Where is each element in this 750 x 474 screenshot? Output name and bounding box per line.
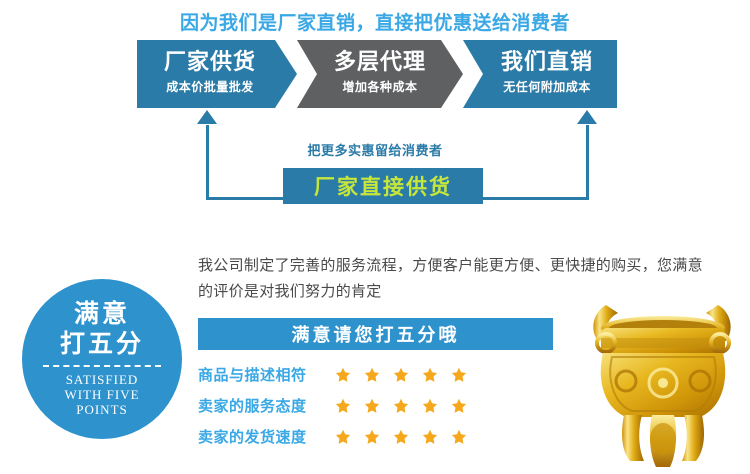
badge-chinese-line-2: 打五分 (22, 329, 182, 359)
golden-ding-product-image (576, 283, 750, 469)
star-icon[interactable] (361, 395, 383, 417)
star-icon[interactable] (419, 395, 441, 417)
flow-step-factory-supply: 厂家供货 成本价批量批发 (137, 40, 297, 108)
star-icon[interactable] (448, 364, 470, 386)
badge-dashed-divider (43, 365, 161, 367)
star-icon[interactable] (419, 426, 441, 448)
flow-step-direct-sale: 我们直销 无任何附加成本 (463, 40, 617, 108)
flow-step-2-subtitle: 增加各种成本 (297, 77, 463, 97)
rating-row-item-match: 商品与描述相符 (198, 359, 598, 390)
star-icon[interactable] (390, 395, 412, 417)
badge-english-line-1: SATISFIED (22, 372, 182, 387)
badge-english-line-3: POINTS (22, 402, 182, 417)
rating-rows-list: 商品与描述相符 卖家的服务态度 (198, 359, 598, 452)
flow-step-1-title: 厂家供货 (137, 47, 297, 77)
star-icon[interactable] (332, 426, 354, 448)
supply-chain-flow-section: 因为我们是厂家直销，直接把优惠送给消费者 厂家供货 成本价批量批发 多层代理 增… (0, 0, 750, 225)
direct-supply-box: 厂家直接供货 (283, 168, 483, 204)
flow-step-3-subtitle: 无任何附加成本 (463, 77, 617, 97)
flow-title: 因为我们是厂家直销，直接把优惠送给消费者 (0, 8, 750, 35)
promo-banner-page: 因为我们是厂家直销，直接把优惠送给消费者 厂家供货 成本价批量批发 多层代理 增… (0, 0, 750, 474)
star-icon[interactable] (361, 364, 383, 386)
rating-label-item-match: 商品与描述相符 (198, 364, 318, 385)
rating-stars-shipping-speed[interactable] (332, 426, 477, 448)
rating-stars-item-match[interactable] (332, 364, 477, 386)
star-icon[interactable] (419, 364, 441, 386)
loop-caption: 把更多实惠留给消费者 (0, 140, 750, 159)
badge-chinese-line-1: 满意 (22, 299, 182, 329)
flow-step-1-subtitle: 成本价批量批发 (137, 77, 297, 97)
star-icon[interactable] (332, 364, 354, 386)
star-icon[interactable] (448, 395, 470, 417)
star-icon[interactable] (448, 426, 470, 448)
star-icon[interactable] (390, 426, 412, 448)
rating-label-service-attitude: 卖家的服务态度 (198, 395, 318, 416)
rating-banner: 满意请您打五分哦 (198, 318, 553, 350)
service-rating-section: 满意 打五分 SATISFIED WITH FIVE POINTS 我公司制定了… (0, 225, 750, 474)
rating-banner-label: 满意请您打五分哦 (292, 321, 460, 347)
flow-step-3-title: 我们直销 (463, 47, 617, 77)
loop-arrow-right-icon (577, 110, 597, 124)
direct-supply-label: 厂家直接供货 (314, 171, 452, 201)
badge-english-line-2: WITH FIVE (22, 387, 182, 402)
star-icon[interactable] (361, 426, 383, 448)
loop-connector-right-vertical (586, 125, 589, 200)
loop-connector-left-vertical (206, 125, 209, 200)
star-icon[interactable] (332, 395, 354, 417)
star-icon[interactable] (390, 364, 412, 386)
flow-step-2-title: 多层代理 (297, 47, 463, 77)
chevron-steps-row: 厂家供货 成本价批量批发 多层代理 增加各种成本 我们直销 无任何附加成本 (137, 40, 617, 108)
rating-stars-service-attitude[interactable] (332, 395, 477, 417)
rating-row-service-attitude: 卖家的服务态度 (198, 390, 598, 421)
satisfaction-badge: 满意 打五分 SATISFIED WITH FIVE POINTS (22, 279, 182, 439)
flow-step-multi-agent: 多层代理 增加各种成本 (297, 40, 463, 108)
loop-arrow-left-icon (197, 110, 217, 124)
rating-row-shipping-speed: 卖家的发货速度 (198, 421, 598, 452)
rating-label-shipping-speed: 卖家的发货速度 (198, 426, 318, 447)
